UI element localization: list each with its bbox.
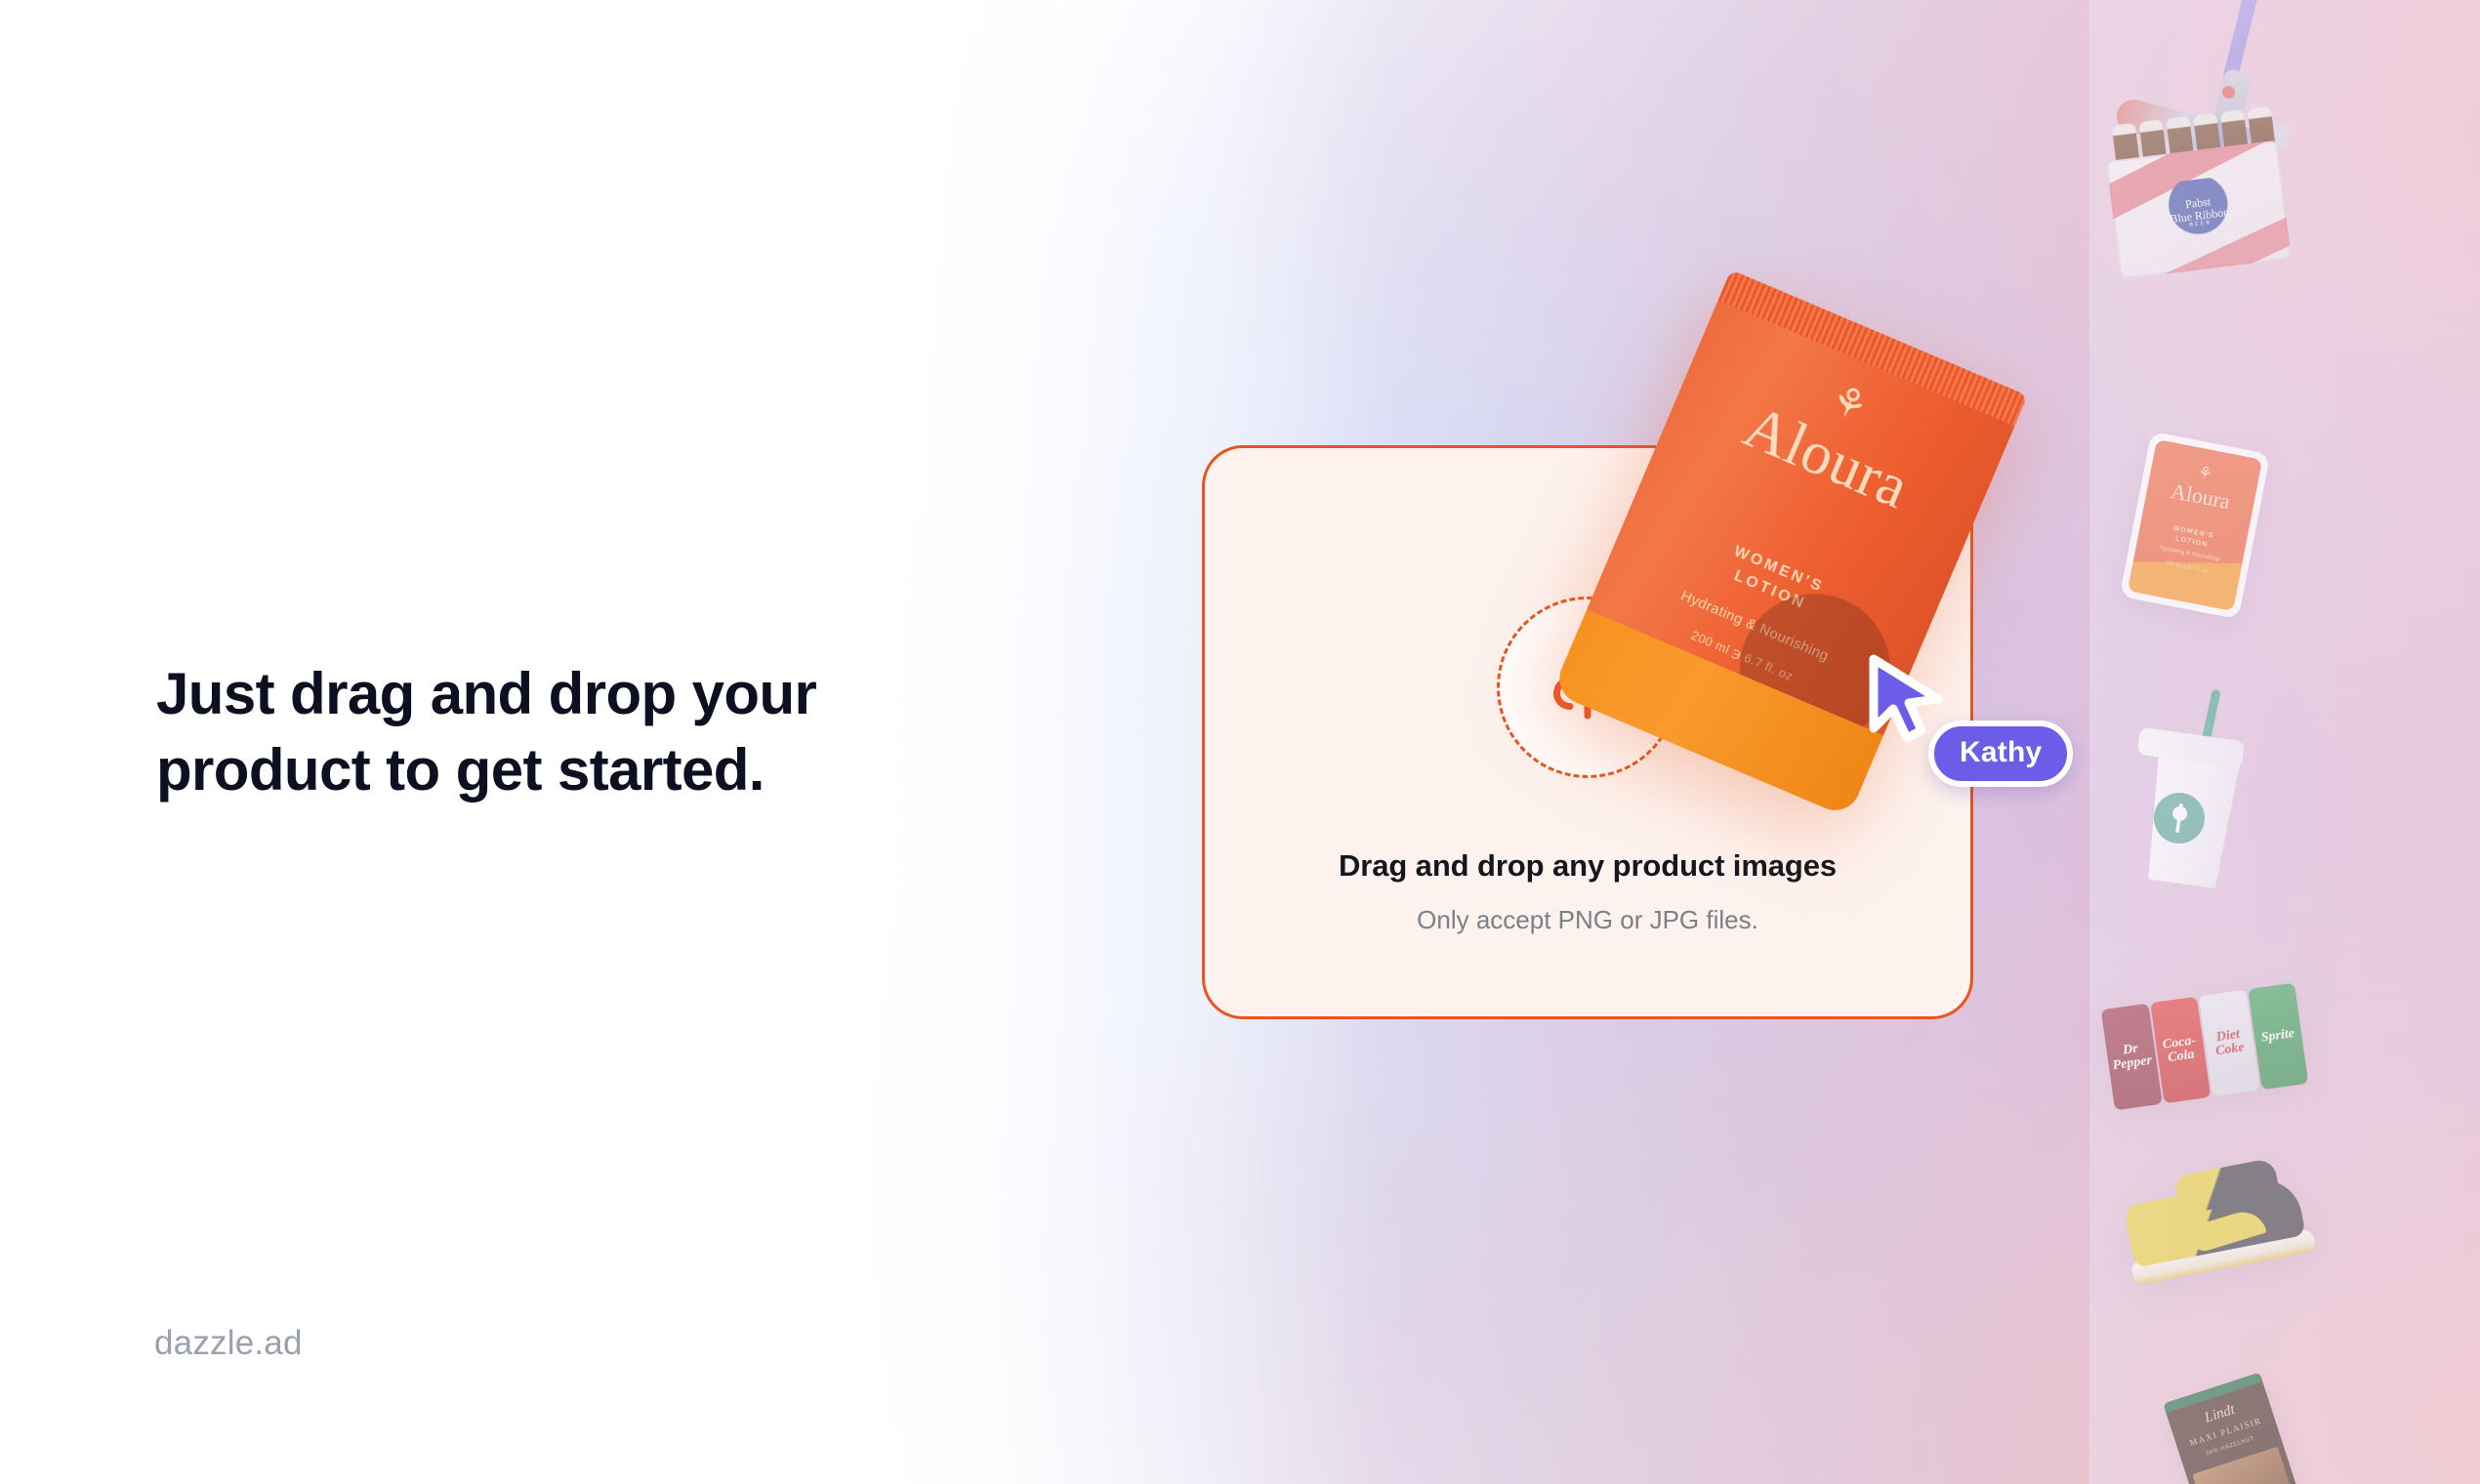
brand-logo: dazzle.ad	[154, 1324, 303, 1363]
product-sneaker	[2114, 1143, 2317, 1286]
product-soda-multipack: Dr Pepper Coca-Cola Diet Coke Sprite	[2101, 983, 2309, 1111]
pabst-brand-line3: BEER	[2189, 221, 2212, 229]
pabst-carton: Pabst Blue Ribbon BEER	[2106, 141, 2292, 280]
product-aloura-thumbnail: ⚘ Aloura WOMEN'S LOTION Hydrating & Nour…	[2120, 432, 2271, 620]
product-lindt-bar: Lindt MAXI PLAISIR 34% HAZELNUT	[2163, 1373, 2304, 1484]
dropzone-title: Drag and drop any product images	[1339, 848, 1837, 884]
pabst-seal-logo: Pabst Blue Ribbon BEER	[2145, 174, 2254, 252]
page-title: Just drag and drop your product to get s…	[156, 656, 957, 808]
product-rail: Pabst Blue Ribbon BEER ⚘ Aloura WOMEN'S …	[2089, 0, 2480, 1484]
collaborator-name-label: Kathy	[1928, 721, 2073, 787]
dropzone-subtitle: Only accept PNG or JPG files.	[1417, 905, 1758, 935]
aloura-thumbnail-art: ⚘ Aloura WOMEN'S LOTION Hydrating & Nour…	[2128, 439, 2262, 611]
app-root: Just drag and drop your product to get s…	[0, 0, 2480, 1484]
